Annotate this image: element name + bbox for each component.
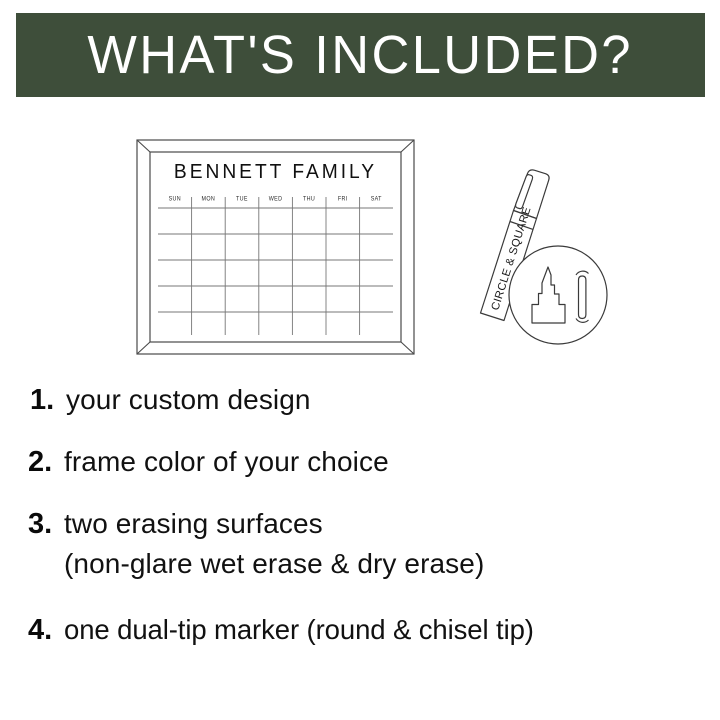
- marker-tip-inset: [509, 246, 607, 344]
- calendar-day-mon: MON: [192, 195, 226, 203]
- list-item-subtext: (non-glare wet erase & dry erase): [64, 544, 484, 584]
- list-item: 2. frame color of your choice: [0, 442, 720, 482]
- list-item-number: 1.: [30, 380, 60, 420]
- list-item: 1. your custom design: [0, 380, 720, 420]
- list-item: 3. two erasing surfaces (non-glare wet e…: [0, 504, 720, 584]
- list-item-text: two erasing surfaces: [64, 504, 484, 544]
- list-item-text: your custom design: [60, 380, 311, 420]
- list-item-number: 2.: [28, 442, 58, 482]
- calendar-day-thu: THU: [292, 195, 326, 203]
- list-item-text-group: two erasing surfaces (non-glare wet eras…: [58, 504, 484, 584]
- marker-illustration: CIRCLE & SQUARE: [466, 163, 626, 359]
- round-tip-shape: [579, 276, 586, 319]
- list-item-number: 4.: [28, 610, 58, 650]
- list-item: 4. one dual-tip marker (round & chisel t…: [0, 610, 720, 650]
- calendar-board-title: BENNETT FAMILY: [142, 161, 410, 184]
- marker-svg: CIRCLE & SQUARE: [466, 163, 626, 359]
- calendar-day-wed: WED: [259, 195, 293, 203]
- calendar-day-sun: SUN: [158, 195, 192, 203]
- calendar-day-header-row: SUN MON TUE WED THU FRI SAT: [158, 196, 393, 202]
- calendar-board-illustration: BENNETT FAMILY SUN MON TUE WED THU FRI S…: [136, 139, 415, 355]
- calendar-day-sat: SAT: [359, 195, 393, 203]
- included-items-list: 1. your custom design 2. frame color of …: [0, 380, 720, 672]
- calendar-day-fri: FRI: [326, 195, 360, 203]
- list-item-number: 3.: [28, 504, 58, 544]
- calendar-day-tue: TUE: [225, 195, 259, 203]
- list-item-text: frame color of your choice: [58, 442, 389, 482]
- header-banner: WHAT'S INCLUDED?: [16, 13, 705, 97]
- page-title: WHAT'S INCLUDED?: [88, 28, 634, 82]
- list-item-text: one dual-tip marker (round & chisel tip): [58, 610, 534, 650]
